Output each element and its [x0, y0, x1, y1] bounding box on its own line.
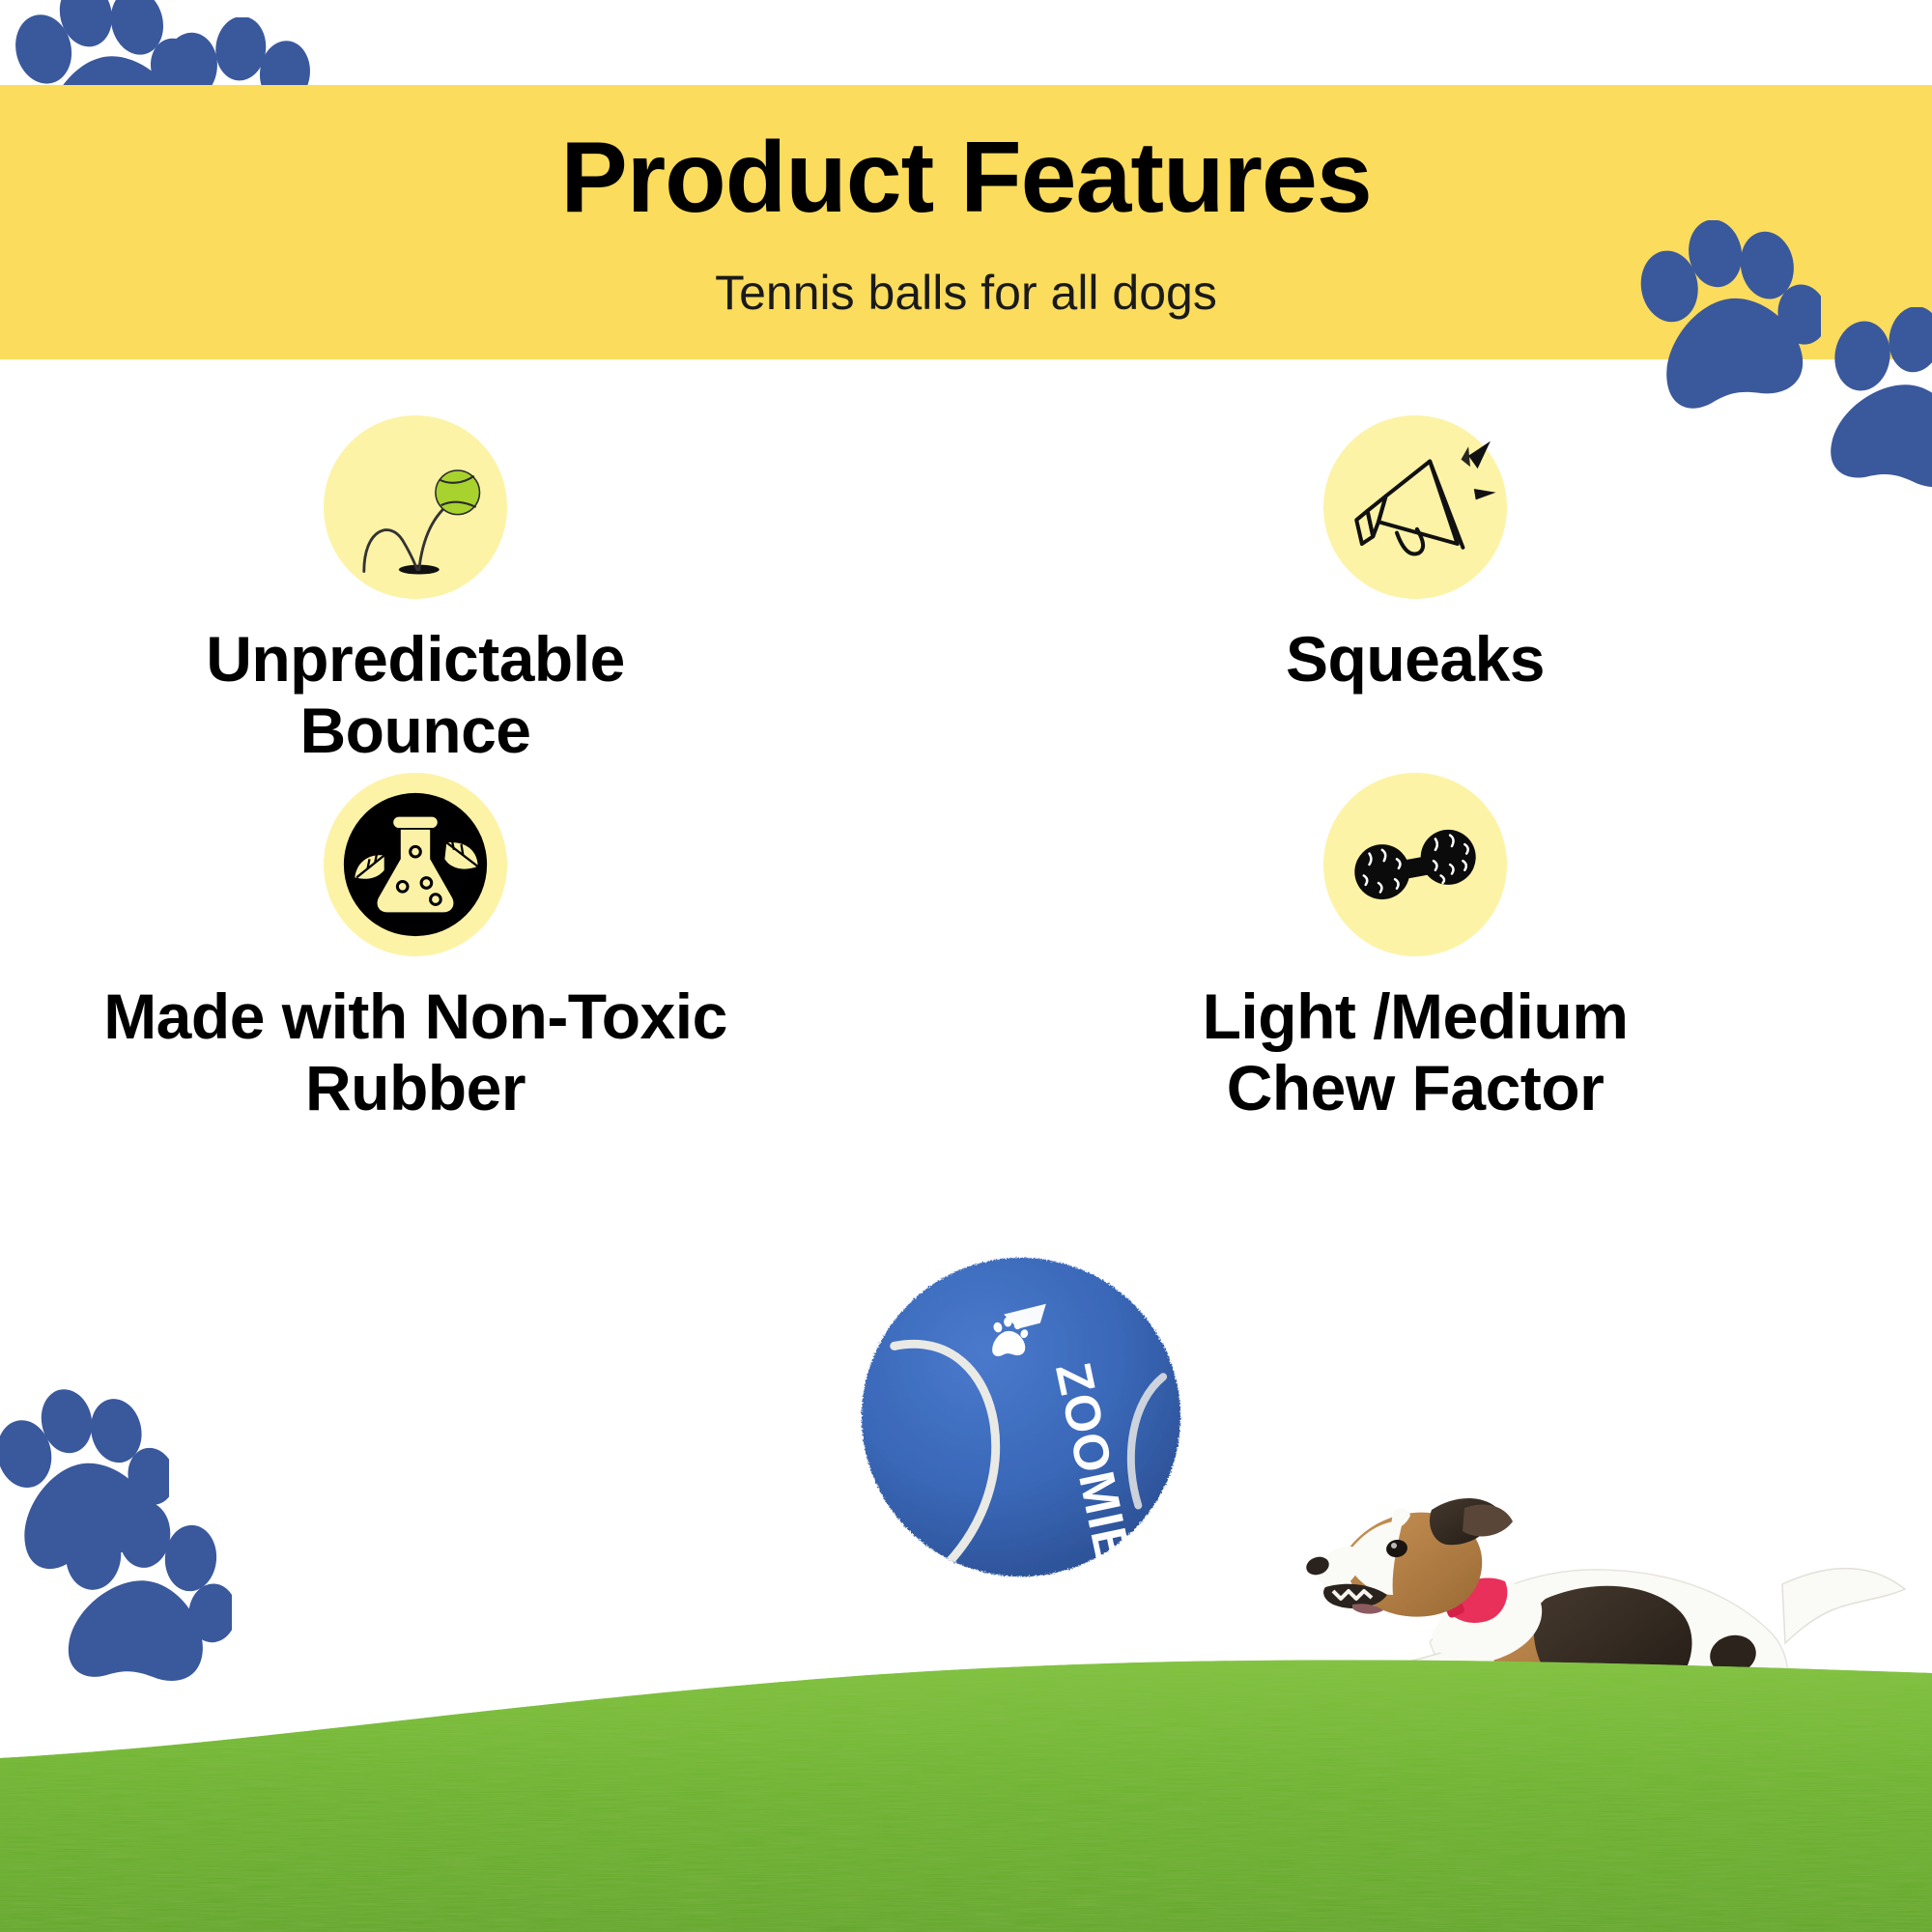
page-title: Product Features: [0, 128, 1932, 228]
grass-field: [0, 1642, 1932, 1932]
feature-label-line1: Light /Medium: [1000, 981, 1831, 1053]
product-tennis-ball: ZOOMIES: [858, 1254, 1184, 1580]
feature-squeaks: Squeaks: [1000, 415, 1831, 696]
feature-unpredictable-bounce: Unpredictable Bounce: [0, 415, 831, 767]
feature-label: Squeaks: [1000, 624, 1831, 696]
paw-print-icon: [1814, 307, 1932, 500]
feature-label: Unpredictable Bounce: [0, 624, 831, 767]
product-features-infographic: Product Features Tennis balls for all do…: [0, 0, 1932, 1932]
flask-leaves-icon: [324, 773, 507, 956]
paw-print-icon: [48, 1503, 232, 1696]
feature-label-line2: Rubber: [0, 1053, 831, 1124]
chew-bone-icon: [1323, 773, 1507, 956]
feature-label: Made with Non-Toxic Rubber: [0, 981, 831, 1124]
feature-non-toxic-rubber: Made with Non-Toxic Rubber: [0, 773, 831, 1124]
feature-label-line2: Chew Factor: [1000, 1053, 1831, 1124]
feature-label-line1: Unpredictable: [0, 624, 831, 696]
feature-label: Light /Medium Chew Factor: [1000, 981, 1831, 1124]
feature-label-line1: Made with Non-Toxic: [0, 981, 831, 1053]
bouncing-ball-icon: [324, 415, 507, 599]
paw-print-icon: [1633, 220, 1821, 418]
feature-chew-factor: Light /Medium Chew Factor: [1000, 773, 1831, 1124]
megaphone-icon: [1323, 415, 1507, 599]
feature-label-line1: Squeaks: [1000, 624, 1831, 696]
feature-label-line2: Bounce: [0, 696, 831, 767]
